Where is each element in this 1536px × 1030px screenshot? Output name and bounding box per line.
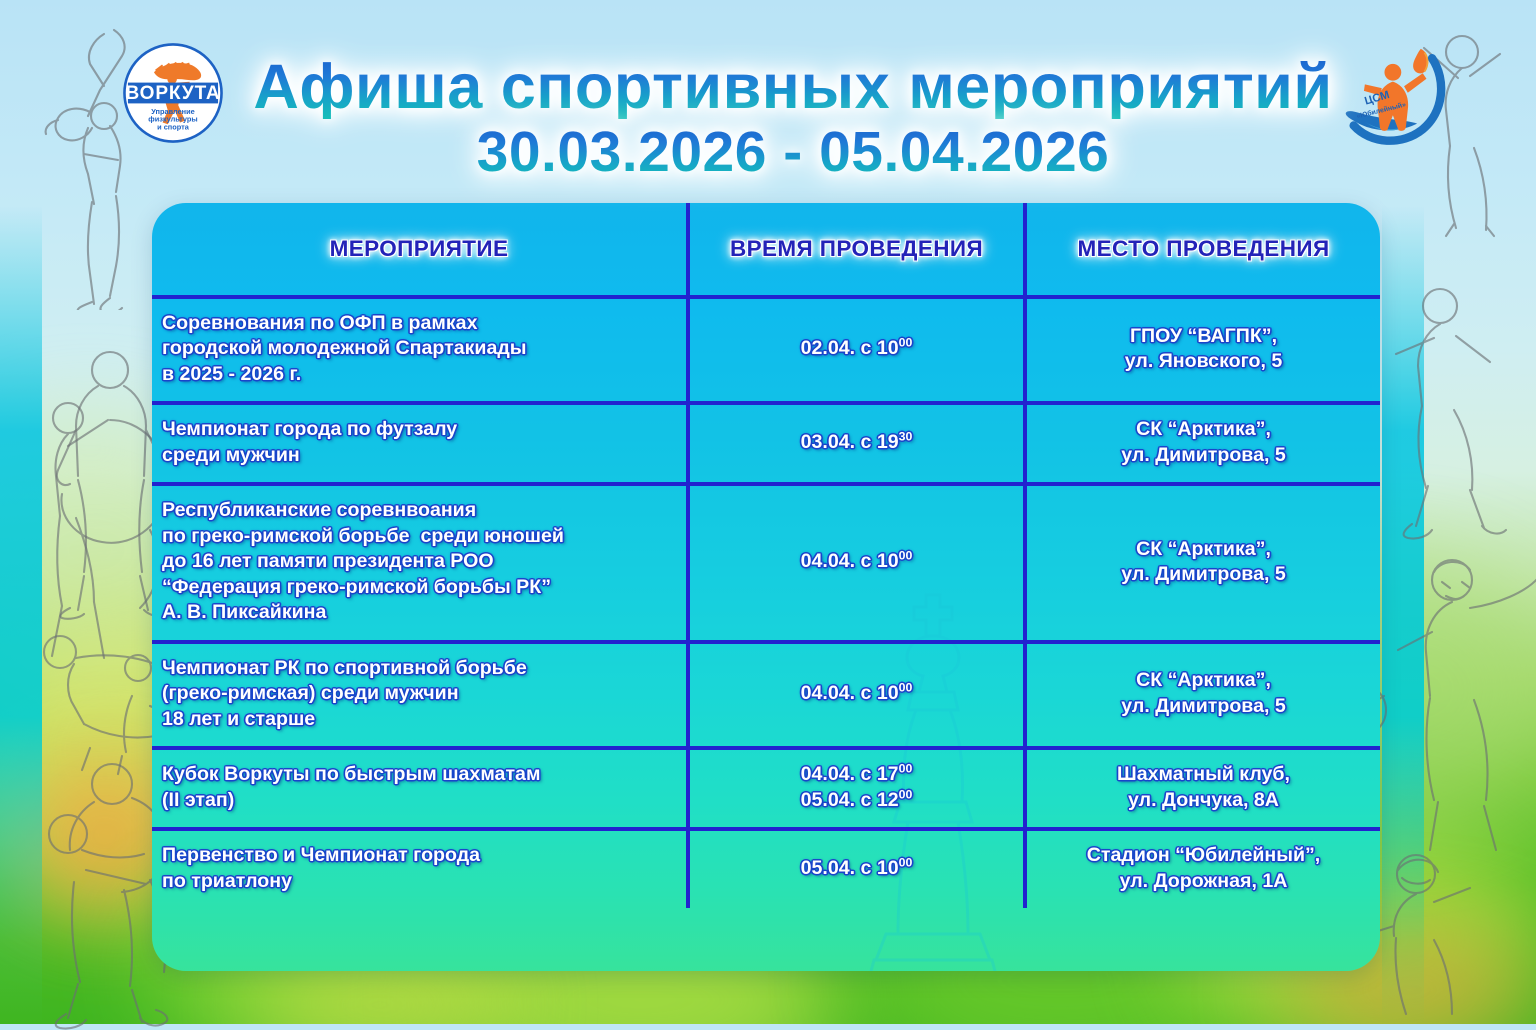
place-line: ул. Димитрова, 5 [1037, 694, 1370, 719]
page-title: Афиша спортивных мероприятий [230, 55, 1356, 119]
place-line: СК “Арктика”, [1037, 537, 1370, 562]
time-minutes: 00 [899, 855, 913, 869]
event-line: в 2025 - 2026 г. [162, 362, 676, 387]
cell-place: ГПОУ “ВАГПК”,ул. Яновского, 5 [1025, 297, 1380, 403]
cell-place: СК “Арктика”,ул. Димитрова, 5 [1025, 484, 1380, 641]
place-line: ул. Дончука, 8А [1037, 788, 1370, 813]
event-line: Первенство и Чемпионат города [162, 843, 676, 868]
place-line: СК “Арктика”, [1037, 417, 1370, 442]
event-line: Чемпионат РК по спортивной борьбе [162, 656, 676, 681]
cell-place: Стадион “Юбилейный”,ул. Дорожная, 1А [1025, 829, 1380, 908]
logo-vorkuta: ВОРКУТА Управление физкультуры и спорта [121, 41, 225, 145]
event-line: Кубок Воркуты по быстрым шахматам [162, 762, 676, 787]
cell-place: Шахматный клуб,ул. Дончука, 8А [1025, 748, 1380, 829]
schedule-panel: МЕРОПРИЯТИЕ ВРЕМЯ ПРОВЕДЕНИЯ МЕСТО ПРОВЕ… [152, 203, 1380, 971]
event-line: 18 лет и старше [162, 707, 676, 732]
cell-time: 04.04. с 1000 [688, 484, 1025, 641]
svg-text:и спорта: и спорта [157, 122, 190, 131]
time-line: 03.04. с 1930 [700, 430, 1013, 455]
place-line: ул. Димитрова, 5 [1037, 443, 1370, 468]
cell-time: 02.04. с 1000 [688, 297, 1025, 403]
place-line: ул. Дорожная, 1А [1037, 869, 1370, 894]
time-line: 05.04. с 1000 [700, 856, 1013, 881]
table-row: Первенство и Чемпионат городапо триатлон… [152, 829, 1380, 908]
place-line: СК “Арктика”, [1037, 668, 1370, 693]
column-header-time: ВРЕМЯ ПРОВЕДЕНИЯ [688, 203, 1025, 297]
place-line: ГПОУ “ВАГПК”, [1037, 324, 1370, 349]
event-line: среди мужчин [162, 443, 676, 468]
athlete-runner-icon [1378, 270, 1528, 550]
cell-event: Кубок Воркуты по быстрым шахматам(II эта… [152, 748, 688, 829]
event-line: (II этап) [162, 788, 676, 813]
time-line: 04.04. с 1000 [700, 549, 1013, 574]
event-line: до 16 лет памяти президента РОО [162, 549, 676, 574]
event-line: Республиканские соревнвоания [162, 498, 676, 523]
event-line: по греко-римской борьбе среди юношей [162, 524, 676, 549]
time-line: 04.04. с 1700 [700, 762, 1013, 787]
cell-time: 04.04. с 1000 [688, 642, 1025, 748]
events-table: МЕРОПРИЯТИЕ ВРЕМЯ ПРОВЕДЕНИЯ МЕСТО ПРОВЕ… [152, 203, 1380, 908]
time-line: 05.04. с 1200 [700, 788, 1013, 813]
table-row: Республиканские соревнвоанияпо греко-рим… [152, 484, 1380, 641]
event-line: городской молодежной Спартакиады [162, 336, 676, 361]
cell-time: 04.04. с 170005.04. с 1200 [688, 748, 1025, 829]
time-minutes: 00 [899, 549, 913, 563]
time-minutes: 00 [899, 787, 913, 801]
event-line: “Федерация греко-римской борьбы РК” [162, 575, 676, 600]
date-range: 30.03.2026 - 05.04.2026 [230, 123, 1356, 181]
table-row: Чемпионат РК по спортивной борьбе(греко-… [152, 642, 1380, 748]
time-minutes: 30 [899, 430, 913, 444]
place-line: Шахматный клуб, [1037, 762, 1370, 787]
time-minutes: 00 [899, 336, 913, 350]
cell-event: Соревнования по ОФП в рамкахгородской мо… [152, 297, 688, 403]
event-line: А. В. Пиксайкина [162, 600, 676, 625]
event-line: Соревнования по ОФП в рамках [162, 311, 676, 336]
cell-event: Чемпионат РК по спортивной борьбе(греко-… [152, 642, 688, 748]
time-line: 04.04. с 1000 [700, 681, 1013, 706]
place-line: ул. Яновского, 5 [1037, 349, 1370, 374]
column-header-place: МЕСТО ПРОВЕДЕНИЯ [1025, 203, 1380, 297]
cell-time: 05.04. с 1000 [688, 829, 1025, 908]
table-row: Кубок Воркуты по быстрым шахматам(II эта… [152, 748, 1380, 829]
event-line: Чемпионат города по футзалу [162, 417, 676, 442]
column-header-event: МЕРОПРИЯТИЕ [152, 203, 688, 297]
time-minutes: 00 [899, 681, 913, 695]
cell-place: СК “Арктика”,ул. Димитрова, 5 [1025, 642, 1380, 748]
svg-text:ВОРКУТА: ВОРКУТА [125, 83, 220, 104]
poster-header: ВОРКУТА Управление физкультуры и спорта … [0, 10, 1536, 200]
time-line: 02.04. с 1000 [700, 336, 1013, 361]
cell-place: СК “Арктика”,ул. Димитрова, 5 [1025, 403, 1380, 484]
table-header-row: МЕРОПРИЯТИЕ ВРЕМЯ ПРОВЕДЕНИЯ МЕСТО ПРОВЕ… [152, 203, 1380, 297]
place-line: ул. Димитрова, 5 [1037, 562, 1370, 587]
table-row: Чемпионат города по футзалусреди мужчин0… [152, 403, 1380, 484]
cell-event: Первенство и Чемпионат городапо триатлон… [152, 829, 688, 908]
cell-event: Чемпионат города по футзалусреди мужчин [152, 403, 688, 484]
event-line: (греко-римская) среди мужчин [162, 681, 676, 706]
place-line: Стадион “Юбилейный”, [1037, 843, 1370, 868]
event-line: по триатлону [162, 869, 676, 894]
table-row: Соревнования по ОФП в рамкахгородской мо… [152, 297, 1380, 403]
cell-event: Республиканские соревнвоанияпо греко-рим… [152, 484, 688, 641]
cell-time: 03.04. с 1930 [688, 403, 1025, 484]
time-minutes: 00 [899, 762, 913, 776]
